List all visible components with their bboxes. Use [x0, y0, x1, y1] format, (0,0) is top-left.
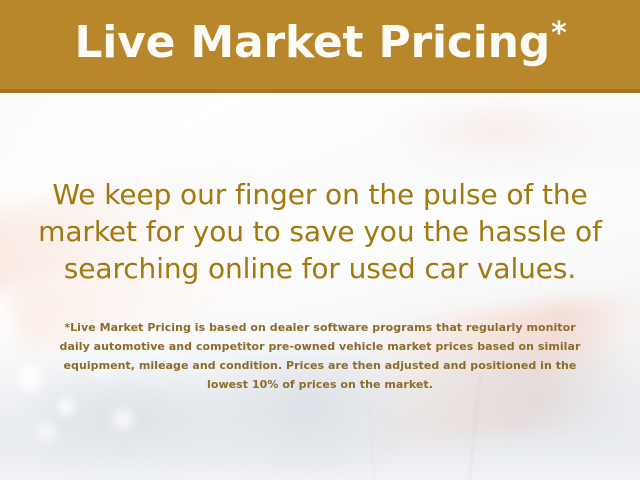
page-title: Live Market Pricing* [74, 21, 565, 65]
footnote-marker: * [551, 16, 567, 51]
header-band: Live Market Pricing* [0, 0, 640, 93]
disclaimer-line: equipment, mileage and condition. Prices… [0, 356, 640, 375]
headline-block: We keep our finger on the pulse of the m… [0, 176, 640, 287]
headline-line: searching online for used car values. [0, 250, 640, 287]
marketing-slide: Live Market Pricing* We keep our finger … [0, 0, 640, 480]
page-title-text: Live Market Pricing [74, 17, 550, 68]
headline-line: We keep our finger on the pulse of the [0, 176, 640, 213]
headline-line: market for you to save you the hassle of [0, 213, 640, 250]
disclaimer-line: daily automotive and competitor pre-owne… [0, 337, 640, 356]
disclaimer-line: lowest 10% of prices on the market. [0, 375, 640, 394]
disclaimer-block: *Live Market Pricing is based on dealer … [0, 318, 640, 394]
disclaimer-line: *Live Market Pricing is based on dealer … [0, 318, 640, 337]
